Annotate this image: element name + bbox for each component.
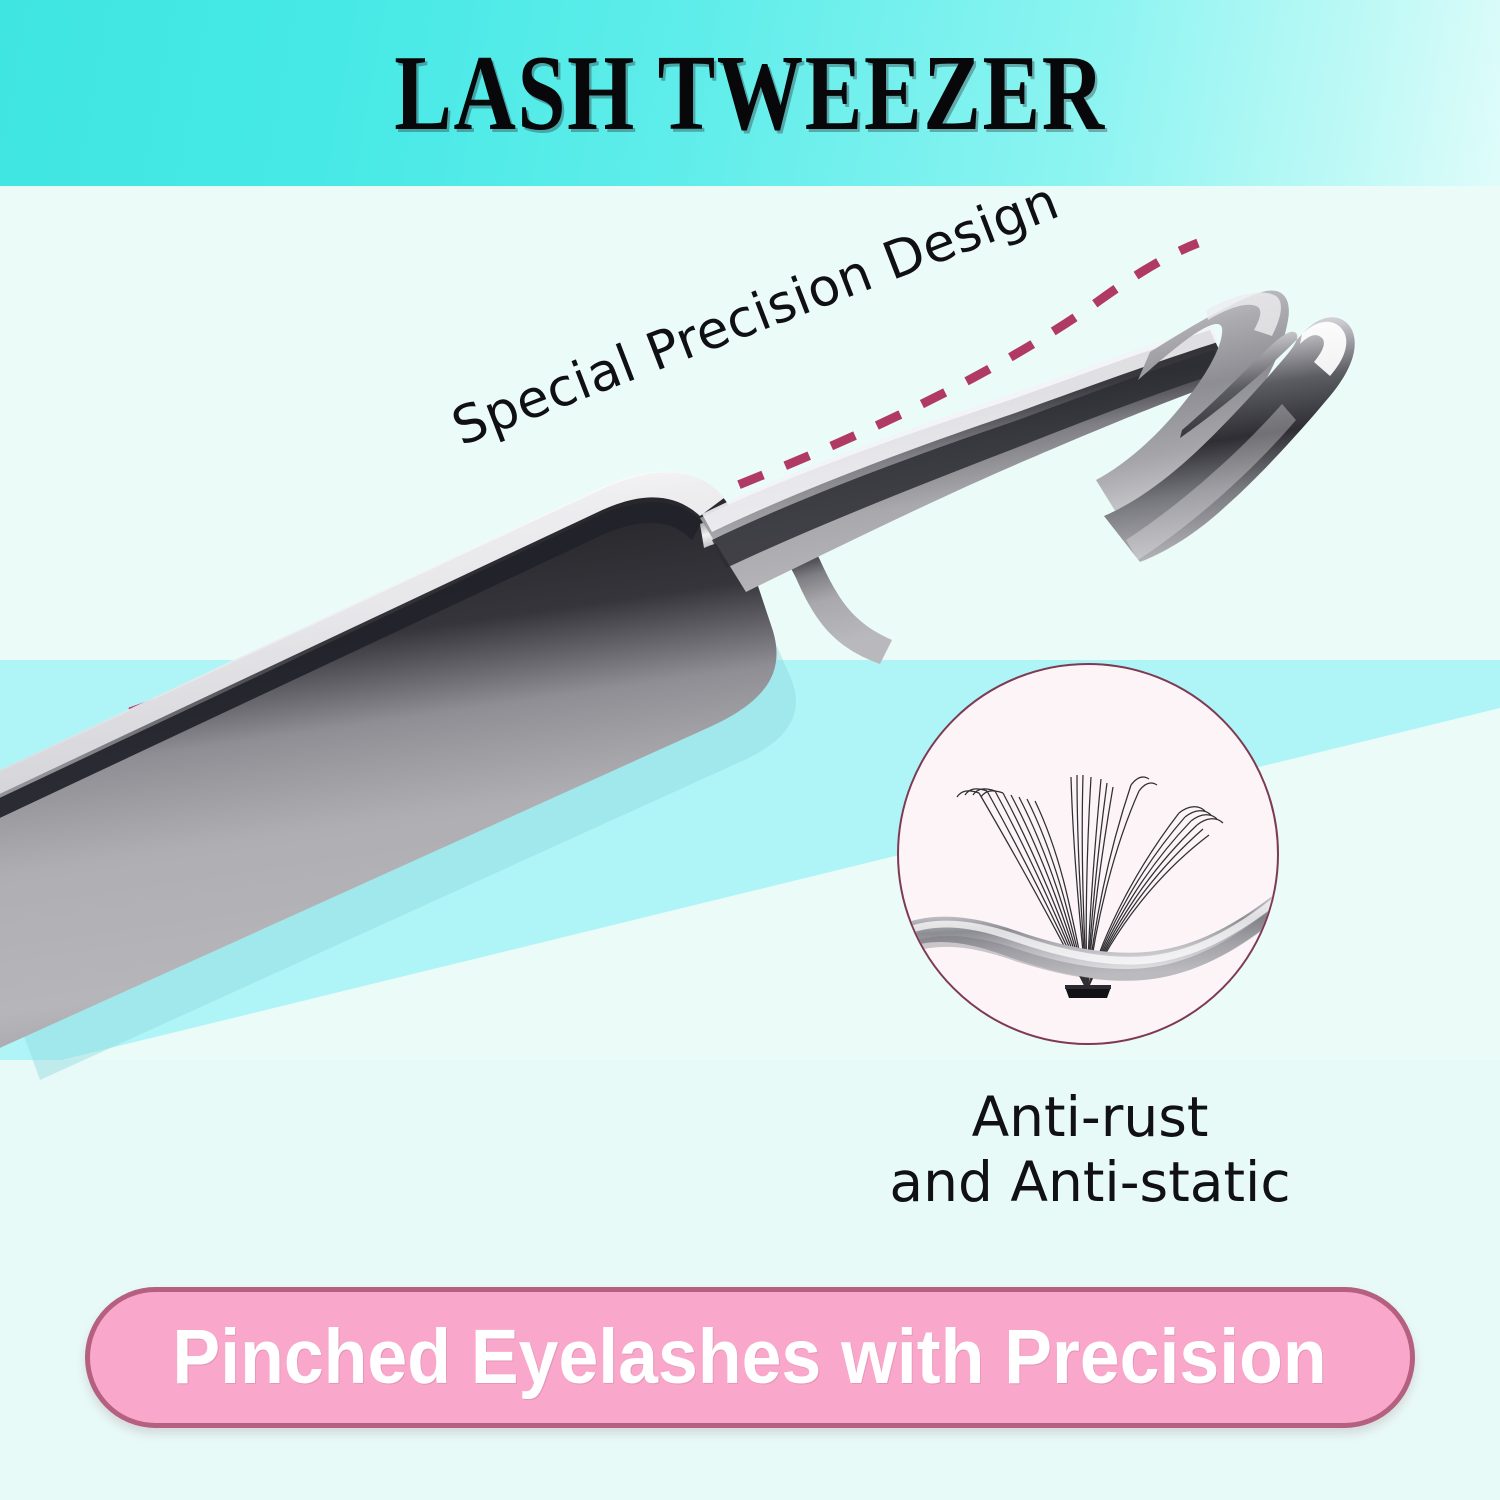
bottom-banner: Pinched Eyelashes with Precision (85, 1287, 1415, 1428)
inset-circle-lash-fan (897, 663, 1279, 1045)
lash-fan-icon (899, 665, 1279, 1045)
inset-caption-line-2: and Anti-static (880, 1150, 1300, 1215)
inset-caption: Anti-rust and Anti-static (880, 1085, 1300, 1215)
inset-caption-line-1: Anti-rust (880, 1085, 1300, 1150)
product-infographic: LASH TWEEZER (0, 0, 1500, 1500)
bottom-banner-text: Pinched Eyelashes with Precision (173, 1313, 1327, 1402)
